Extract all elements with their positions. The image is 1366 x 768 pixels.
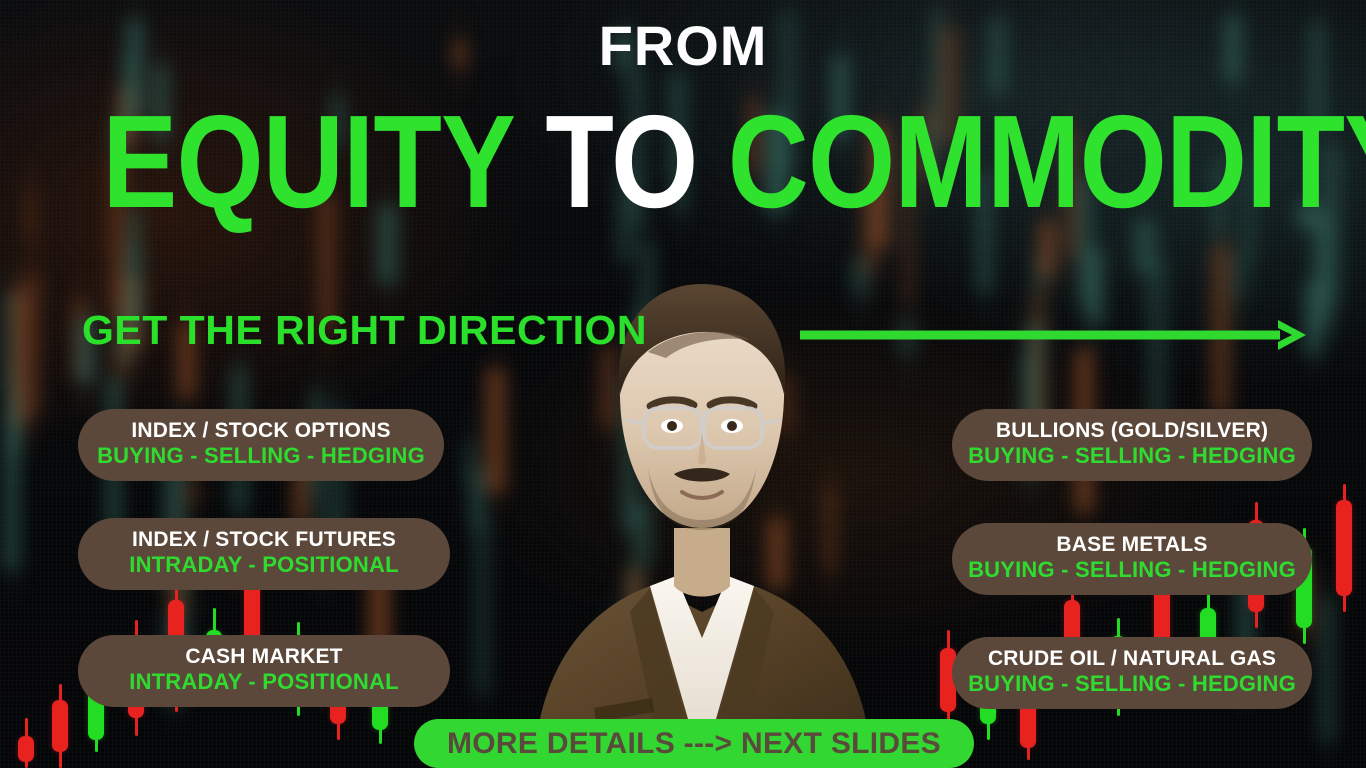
pill-subtitle: INTRADAY - POSITIONAL [129, 552, 398, 578]
pill-subtitle: INTRADAY - POSITIONAL [129, 669, 398, 695]
headline-word-to [515, 88, 545, 235]
pill-title: BASE METALS [1056, 533, 1207, 558]
pill-subtitle: BUYING - SELLING - HEDGING [968, 671, 1296, 697]
service-pill-base-metals[interactable]: BASE METALS BUYING - SELLING - HEDGING [952, 523, 1312, 595]
pill-subtitle: BUYING - SELLING - HEDGING [97, 443, 425, 469]
service-pill-bullions[interactable]: BULLIONS (GOLD/SILVER) BUYING - SELLING … [952, 409, 1312, 481]
page-title: EQUITY TO COMMODITY [102, 96, 1263, 228]
pill-subtitle: BUYING - SELLING - HEDGING [968, 443, 1296, 469]
next-slides-banner-label: MORE DETAILS ---> NEXT SLIDES [447, 729, 941, 759]
tagline-text: GET THE RIGHT DIRECTION [82, 310, 647, 351]
headline-word-equity: EQUITY [102, 88, 515, 235]
pill-title: INDEX / STOCK OPTIONS [131, 419, 390, 444]
pill-title: CRUDE OIL / NATURAL GAS [988, 647, 1276, 672]
service-pill-cash-market[interactable]: CASH MARKET INTRADAY - POSITIONAL [78, 635, 450, 707]
next-slides-banner[interactable]: MORE DETAILS ---> NEXT SLIDES [414, 719, 974, 768]
pill-subtitle: BUYING - SELLING - HEDGING [968, 557, 1296, 583]
headline-word-commodity: COMMODITY [728, 88, 1366, 235]
pill-title: INDEX / STOCK FUTURES [132, 528, 396, 553]
right-arrow-icon [800, 318, 1310, 357]
service-pill-crude-oil-natural-gas[interactable]: CRUDE OIL / NATURAL GAS BUYING - SELLING… [952, 637, 1312, 709]
pill-title: CASH MARKET [185, 645, 342, 670]
service-pill-index-stock-futures[interactable]: INDEX / STOCK FUTURES INTRADAY - POSITIO… [78, 518, 450, 590]
eyebrow-text: FROM [0, 18, 1366, 74]
slide-canvas: FROM EQUITY TO COMMODITY GET THE RIGHT D… [0, 0, 1366, 768]
headline-word-to-text: TO [545, 88, 697, 235]
pill-title: BULLIONS (GOLD/SILVER) [996, 419, 1268, 444]
headline-space [697, 88, 727, 235]
service-pill-index-stock-options[interactable]: INDEX / STOCK OPTIONS BUYING - SELLING -… [78, 409, 444, 481]
